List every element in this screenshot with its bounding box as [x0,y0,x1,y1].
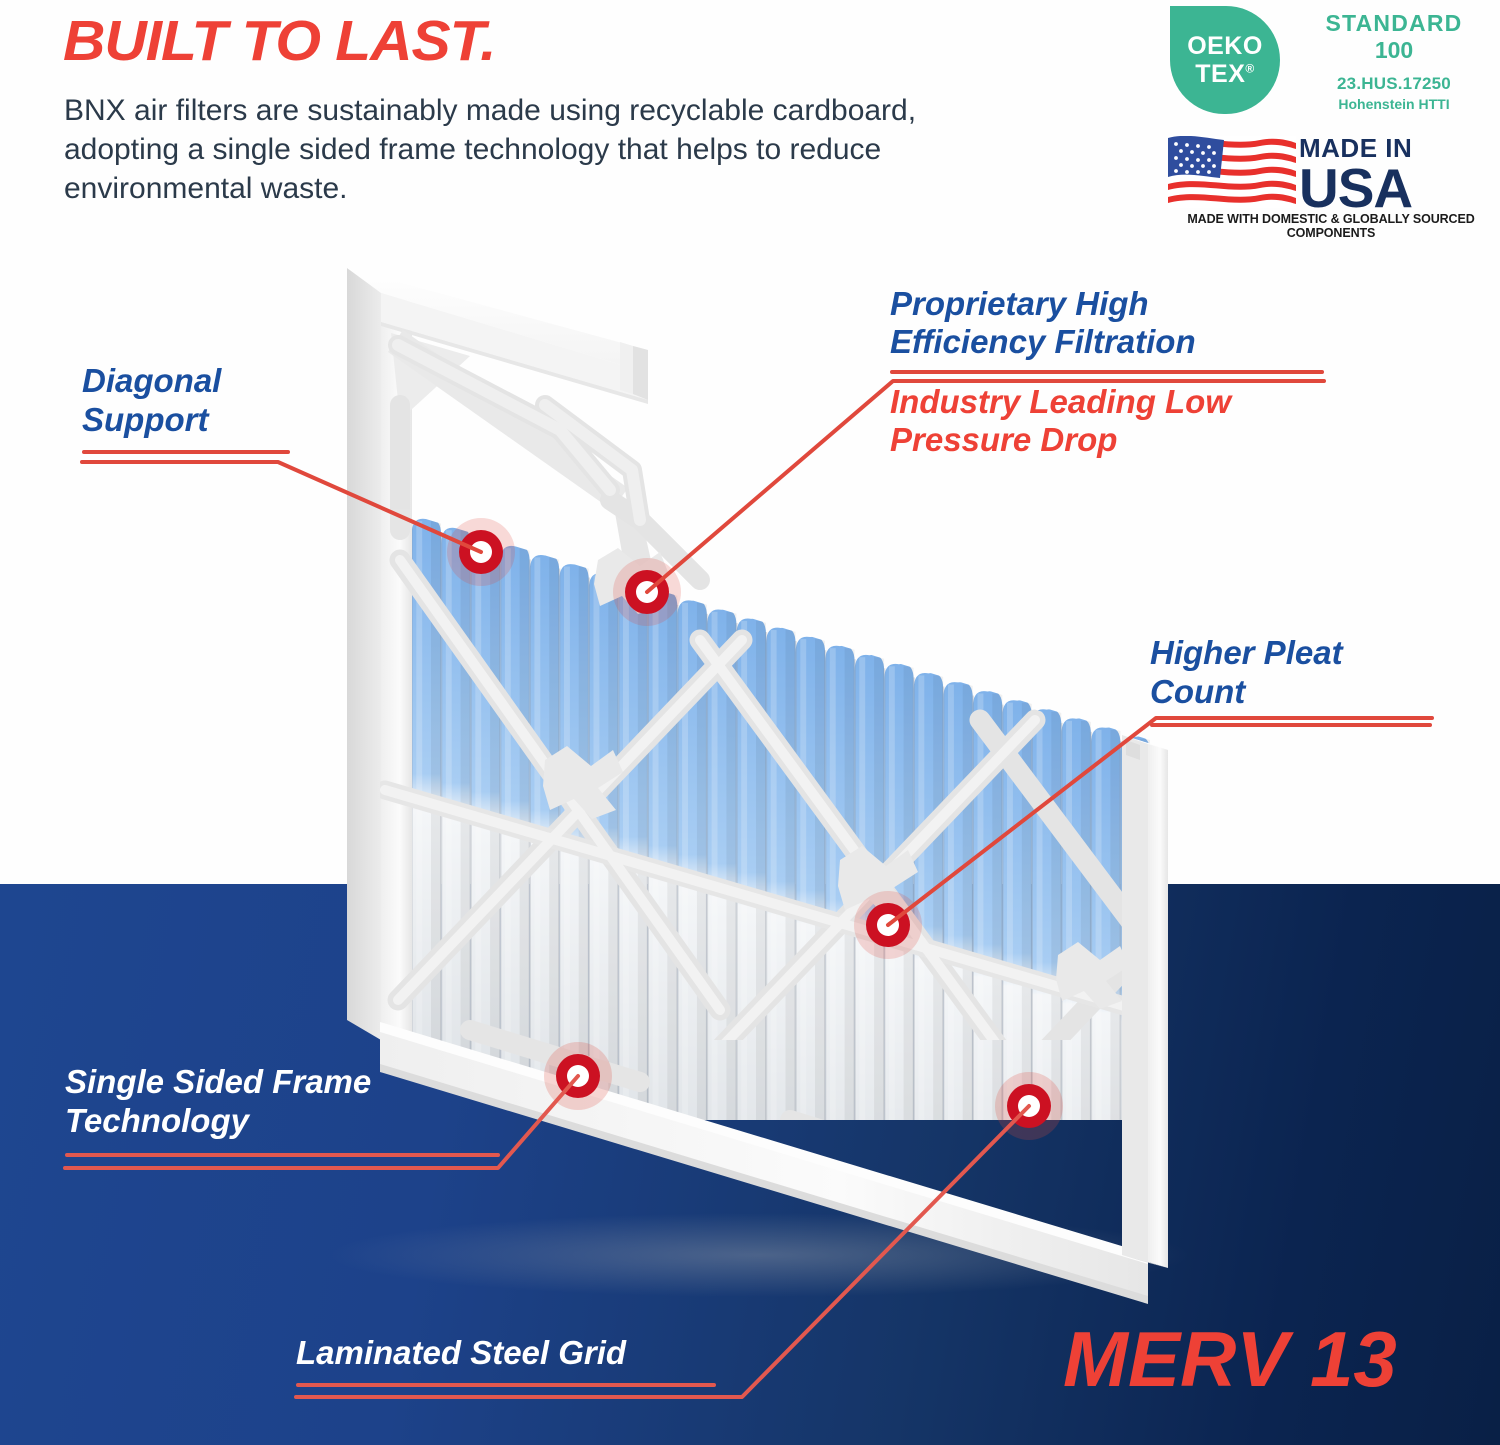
callout-lsg-line1: Laminated Steel Grid [296,1333,716,1372]
callout-proprietary-rule [890,370,1324,374]
page-title: BUILT TO LAST. [63,8,495,74]
standard-label: STANDARD [1296,10,1492,37]
made-in-usa-text: MADE IN USA [1299,134,1412,213]
callout-pressure-drop-line2: Pressure Drop [890,421,1340,459]
callout-pleat-line1: Higher Pleat [1150,633,1480,672]
registered-trademark-icon: ® [1245,61,1254,75]
oeko-tex-line2: TEX® [1195,62,1254,87]
callout-pleat-line2: Count [1150,672,1480,711]
callout-laminated-steel-grid: Laminated Steel Grid [296,1333,716,1387]
made-in-usa-badge: MADE IN USA MADE WITH DOMESTIC & GLOBALL… [1168,134,1494,234]
infographic-canvas: BUILT TO LAST. BNX air filters are susta… [0,0,1500,1445]
merv-rating-label: MERV 13 [1063,1320,1397,1398]
callout-pleat-rule [1150,723,1432,727]
callout-proprietary-line2: Efficiency Filtration [890,323,1340,361]
callout-diagonal-support-line1: Diagonal [82,361,422,400]
callout-lsg-rule [296,1383,716,1387]
callout-ssft-rule [65,1153,500,1157]
callout-diagonal-support: Diagonal Support [82,361,422,454]
certificate-number: 23.HUS.17250 [1296,74,1492,94]
callout-proprietary-filtration: Proprietary High Efficiency Filtration I… [890,285,1340,459]
standard-number: 100 [1296,37,1492,64]
usa-label: USA [1299,163,1412,213]
callout-diagonal-support-rule [82,450,290,454]
intro-paragraph: BNX air filters are sustainably made usi… [64,91,934,208]
usa-flag-icon [1168,136,1296,208]
callout-ssft-line1: Single Sided Frame [65,1062,485,1101]
usa-fine-print: MADE WITH DOMESTIC & GLOBALLY SOURCED CO… [1168,212,1494,240]
oeko-tex-badge: OEKO TEX® [1170,6,1280,114]
oeko-tex-standard-info: STANDARD 100 23.HUS.17250 Hohenstein HTT… [1296,10,1492,112]
callout-higher-pleat-count: Higher Pleat Count [1150,633,1480,727]
callout-ssft-line2: Technology [65,1101,485,1140]
oeko-tex-line1: OEKO [1187,34,1263,59]
callout-single-sided-frame: Single Sided Frame Technology [65,1062,485,1157]
callout-diagonal-support-line2: Support [82,400,422,439]
certifying-institute: Hohenstein HTTI [1296,96,1492,112]
callout-pressure-drop-line1: Industry Leading Low [890,383,1340,421]
callout-proprietary-line1: Proprietary High [890,285,1340,323]
oeko-tex-label: OEKO TEX® [1170,6,1280,114]
